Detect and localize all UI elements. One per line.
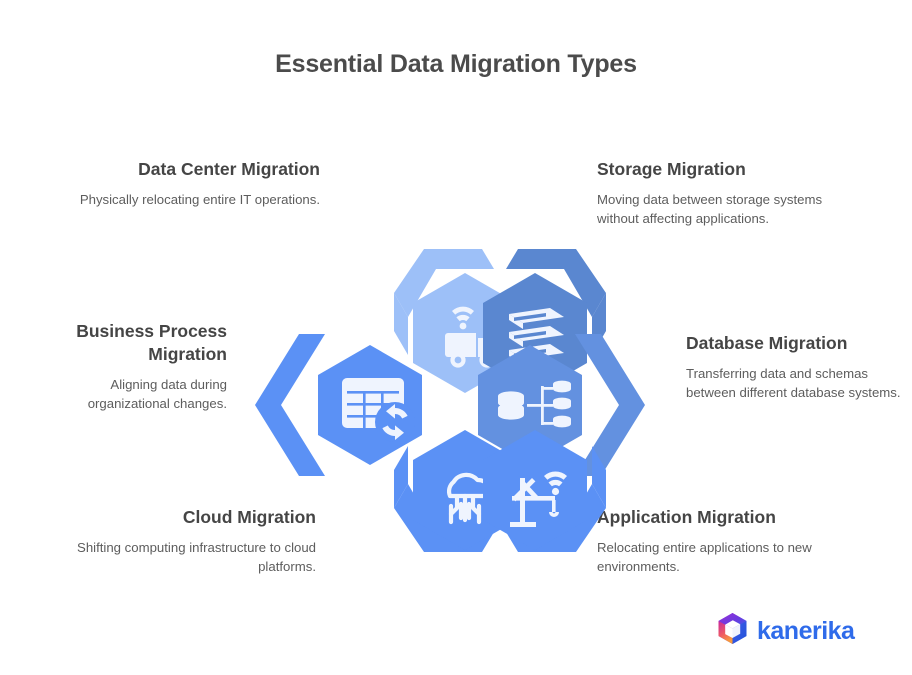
- item-business-process-migration: Business Process Migration Aligning data…: [30, 320, 227, 414]
- brand-logo[interactable]: kanerika: [717, 612, 854, 650]
- item-heading: Storage Migration: [597, 158, 837, 181]
- cube-logo-icon: [717, 612, 748, 650]
- hexagon-cluster: [250, 190, 650, 560]
- item-body: Transferring data and schemas between di…: [686, 365, 901, 402]
- item-heading: Data Center Migration: [60, 158, 320, 181]
- item-body: Aligning data during organizational chan…: [30, 376, 227, 413]
- item-heading: Business Process Migration: [30, 320, 227, 366]
- brand-logo-text: kanerika: [757, 619, 854, 644]
- chevron-accent: [255, 334, 325, 476]
- item-heading: Database Migration: [686, 332, 901, 355]
- page-title: Essential Data Migration Types: [0, 50, 912, 79]
- infographic-canvas: Essential Data Migration Types Data Cent…: [0, 0, 912, 675]
- item-database-migration: Database Migration Transferring data and…: [686, 332, 901, 403]
